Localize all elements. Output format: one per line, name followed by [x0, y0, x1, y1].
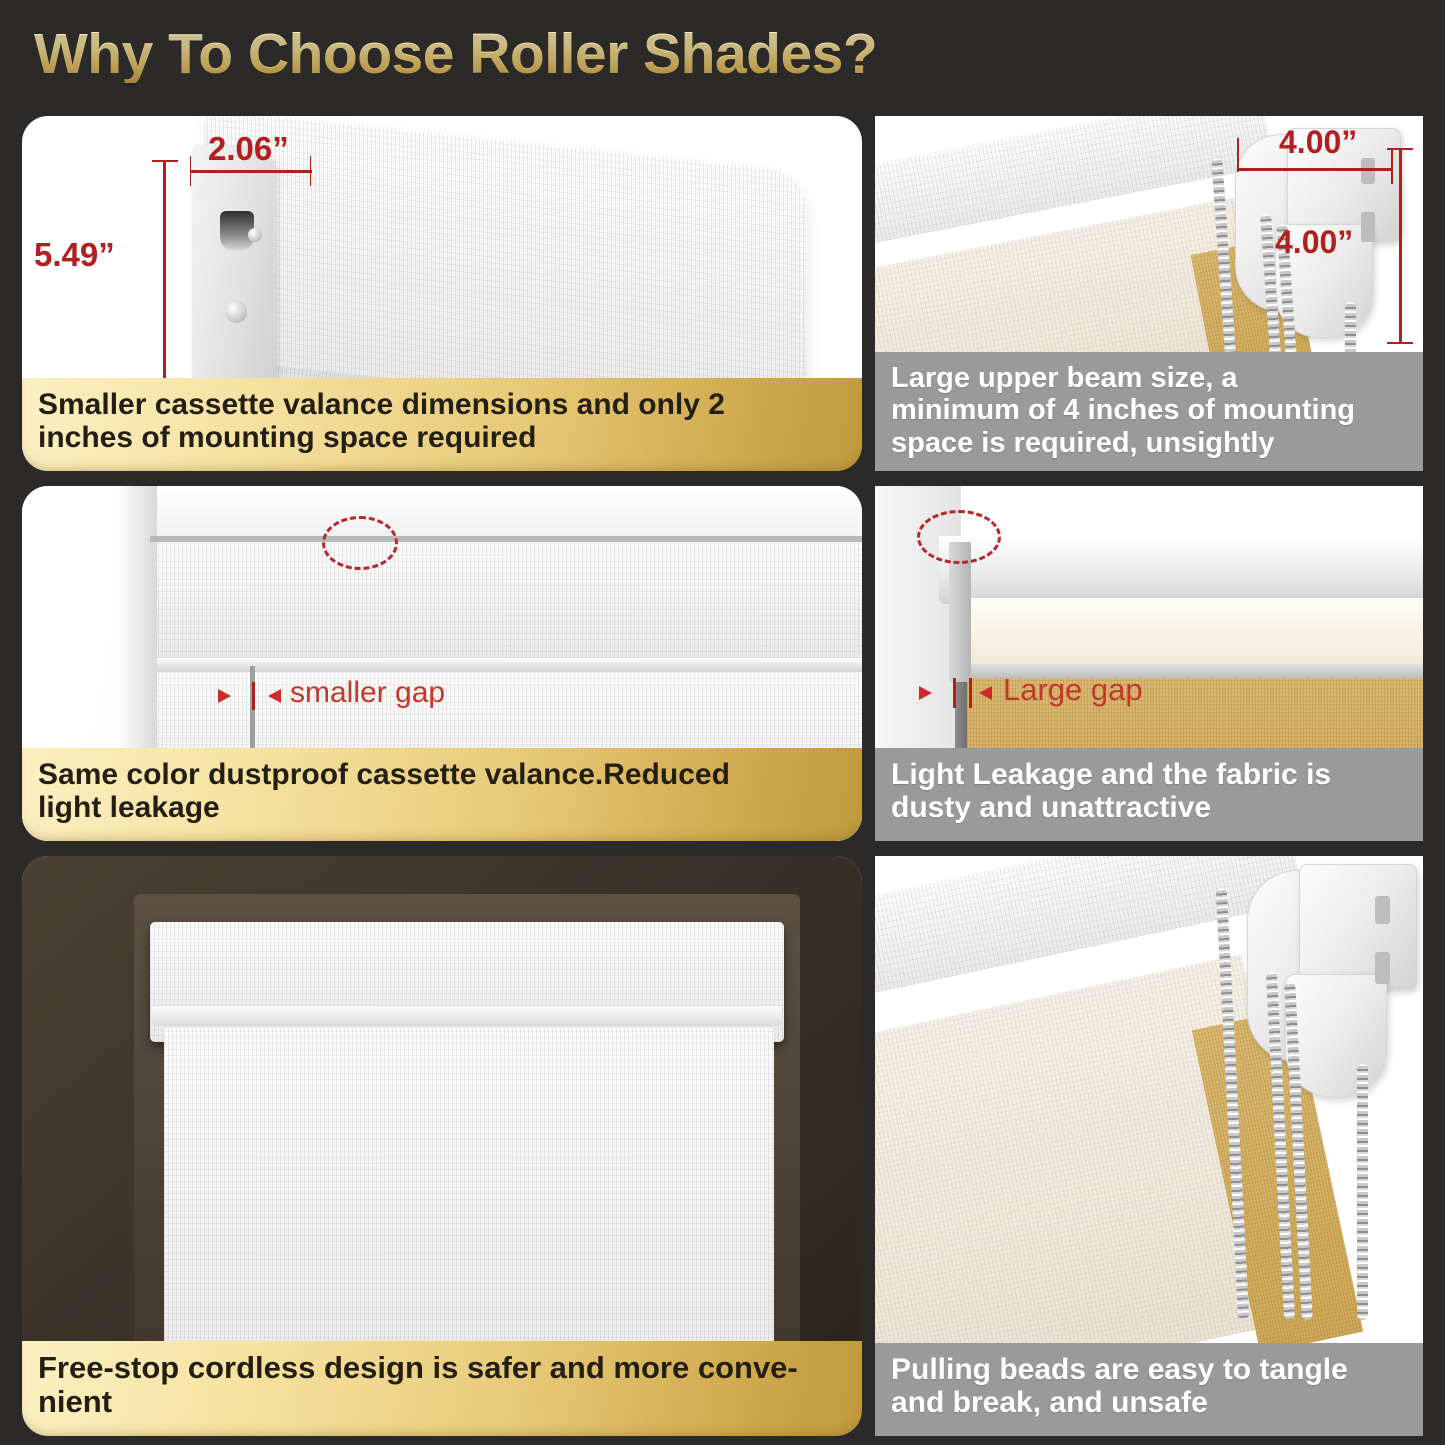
caption-line: Free-stop cordless design is safer and m…: [38, 1351, 848, 1386]
caption-line: Smaller cassette valance dimensions and …: [38, 388, 848, 422]
bracket-screw-lower: [225, 301, 247, 323]
dim-top-tick-right: [1391, 150, 1393, 184]
dim-height-line: [163, 160, 166, 402]
gap-arrow-right-icon: [919, 686, 932, 700]
panel-1-caption: Smaller cassette valance dimensions and …: [22, 378, 862, 471]
cassette-valance: [150, 542, 862, 664]
bracket-slot-a: [1375, 896, 1390, 924]
shade-fabric: [164, 1028, 774, 1368]
panel-light-leakage: Large gap Light Leakage and the fabric i…: [875, 486, 1423, 841]
panel-4-caption: Light Leakage and the fabric is dusty an…: [875, 748, 1423, 841]
caption-line: inches of mounting space required: [38, 421, 848, 455]
bracket-slot-b: [1361, 212, 1375, 242]
gap-arrow-left-icon: [979, 686, 992, 700]
caption-line: space is required, unsightly: [891, 427, 1409, 459]
highlight-circle-icon: [322, 516, 398, 570]
header: Why To Choose Roller Shades?: [0, 0, 1445, 108]
panel-5-caption: Free-stop cordless design is safer and m…: [22, 1341, 862, 1436]
valance-top-shadow: [150, 536, 862, 542]
dim-side-line: [1399, 148, 1402, 344]
headrail: [939, 536, 1423, 604]
panel-dustproof-valance: smaller gap Same color dustproof cassett…: [22, 486, 862, 841]
dim-side-tick-top: [1387, 148, 1413, 150]
dim-width-line: [190, 170, 312, 173]
panel-6-caption: Pulling beads are easy to tangle and bre…: [875, 1343, 1423, 1436]
dim-beam-width-label: 4.00”: [1279, 124, 1357, 161]
panel-large-beam: 4.00” 4.00” Large upper beam size, a min…: [875, 116, 1423, 471]
large-gap-label: Large gap: [1003, 672, 1143, 708]
bracket-slot-b: [1375, 952, 1390, 984]
comparison-grid: 2.06” 5.49” Smaller cassette valance dim…: [0, 108, 1445, 1445]
caption-line: and break, and unsafe: [891, 1386, 1409, 1420]
caption-line: Pulling beads are easy to tangle: [891, 1353, 1409, 1387]
valance-bracket: [192, 146, 276, 406]
dim-side-tick-bottom: [1387, 342, 1413, 344]
gap-tick-left: [953, 678, 956, 708]
caption-line: nient: [38, 1385, 848, 1420]
gap-arrow-left-icon: [268, 689, 281, 703]
caption-line: dusty and unattractive: [891, 791, 1409, 825]
bracket-slot-a: [1361, 158, 1375, 184]
mounting-bracket-top: [1299, 864, 1417, 990]
dim-height-tick-top: [152, 160, 178, 162]
panel-pulling-beads: Pulling beads are easy to tangle and bre…: [875, 856, 1423, 1436]
dim-beam-height-label: 4.00”: [1275, 224, 1353, 261]
dim-width-label: 2.06”: [208, 130, 289, 168]
dim-top-line: [1237, 168, 1393, 171]
bracket-screw-mid: [248, 228, 262, 242]
caption-line: minimum of 4 inches of mounting: [891, 394, 1409, 426]
page-title: Why To Choose Roller Shades?: [34, 26, 877, 83]
panel-3-caption: Same color dustproof cassette valance.Re…: [22, 748, 862, 841]
dim-top-tick-left: [1237, 138, 1239, 172]
dim-height-label: 5.49”: [34, 236, 115, 274]
caption-line: Same color dustproof cassette valance.Re…: [38, 758, 848, 792]
gap-tick: [252, 682, 255, 710]
highlight-circle-icon: [917, 510, 1001, 564]
gap-tick-right: [969, 678, 972, 708]
gap-arrow-right-icon: [218, 689, 231, 703]
panel-cordless-design: Free-stop cordless design is safer and m…: [22, 856, 862, 1436]
panel-smaller-cassette: 2.06” 5.49” Smaller cassette valance dim…: [22, 116, 862, 471]
smaller-gap-label: smaller gap: [290, 676, 445, 710]
upper-beam: [961, 598, 1423, 670]
headrail-lip: [152, 1006, 782, 1026]
caption-line: Light Leakage and the fabric is: [891, 758, 1409, 792]
caption-line: light leakage: [38, 791, 848, 825]
caption-line: Large upper beam size, a: [891, 362, 1409, 394]
panel-2-caption: Large upper beam size, a minimum of 4 in…: [875, 352, 1423, 471]
bead-chain-4: [1357, 1064, 1368, 1320]
